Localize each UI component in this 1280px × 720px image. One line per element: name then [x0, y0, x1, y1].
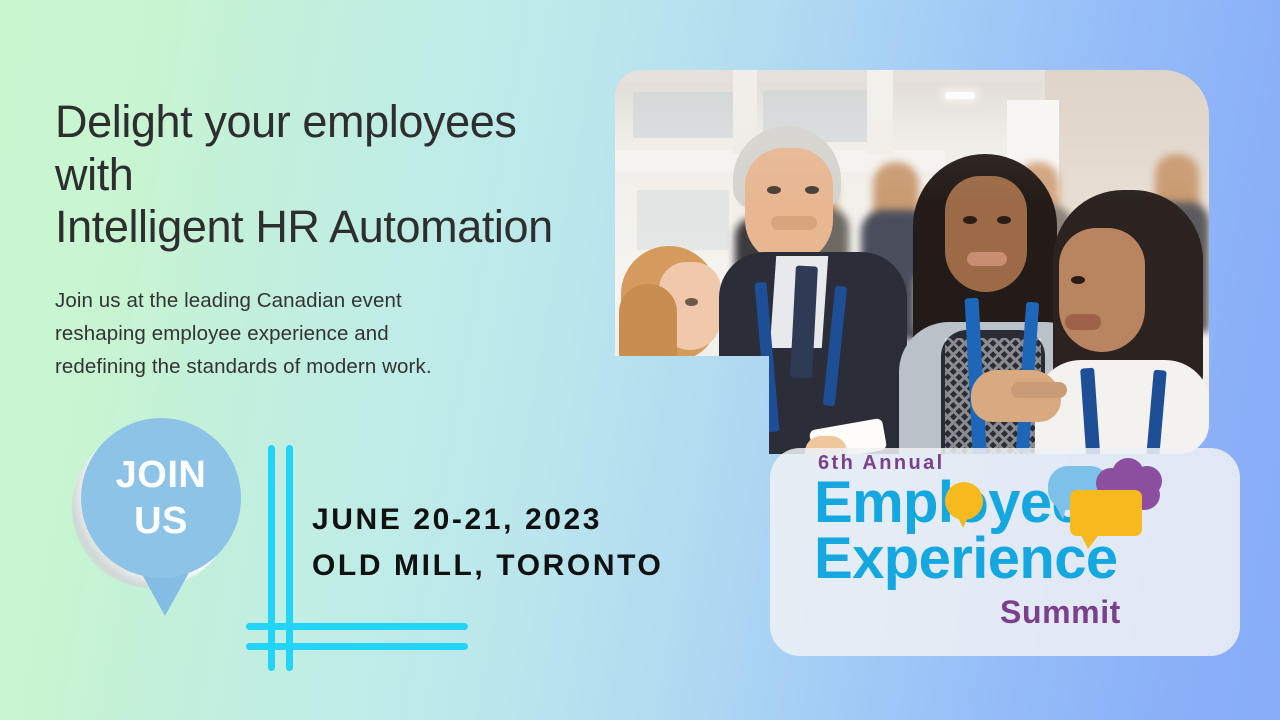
join-us-line-2: US	[134, 502, 188, 540]
logo-name-line-2: Experience	[814, 530, 1118, 588]
hatch-vertical-line-2	[286, 445, 293, 671]
conference-photo	[615, 70, 1209, 454]
hatch-horizontal-line-2	[246, 643, 468, 650]
page-title: Delight your employees with Intelligent …	[55, 96, 635, 254]
speech-bubble-o-icon	[945, 482, 983, 520]
event-logo-card: 6th Annual Employee Experience Summit	[770, 448, 1240, 656]
headline-line-2: with	[55, 149, 635, 202]
subheadline-line-2: reshaping employee experience and	[55, 317, 575, 350]
hatch-vertical-line-1	[268, 445, 275, 671]
photo-content	[615, 70, 1209, 454]
event-date: JUNE 20-21, 2023	[312, 497, 742, 543]
subheadline-line-3: redefining the standards of modern work.	[55, 350, 575, 383]
speech-bubble-yellow-icon	[1070, 490, 1142, 536]
event-venue: OLD MILL, TORONTO	[312, 543, 742, 589]
subheadline: Join us at the leading Canadian event re…	[55, 284, 575, 384]
logo-name-line-3: Summit	[1000, 596, 1121, 628]
headline-line-3: Intelligent HR Automation	[55, 201, 635, 254]
hatch-horizontal-line-1	[246, 623, 468, 630]
subheadline-line-1: Join us at the leading Canadian event	[55, 284, 575, 317]
join-us-label: JOIN US	[81, 418, 241, 578]
photo-light-overlay	[615, 70, 1209, 454]
event-details: JUNE 20-21, 2023 OLD MILL, TORONTO	[312, 497, 742, 588]
join-us-line-1: JOIN	[116, 456, 207, 494]
headline-line-1: Delight your employees	[55, 96, 635, 149]
